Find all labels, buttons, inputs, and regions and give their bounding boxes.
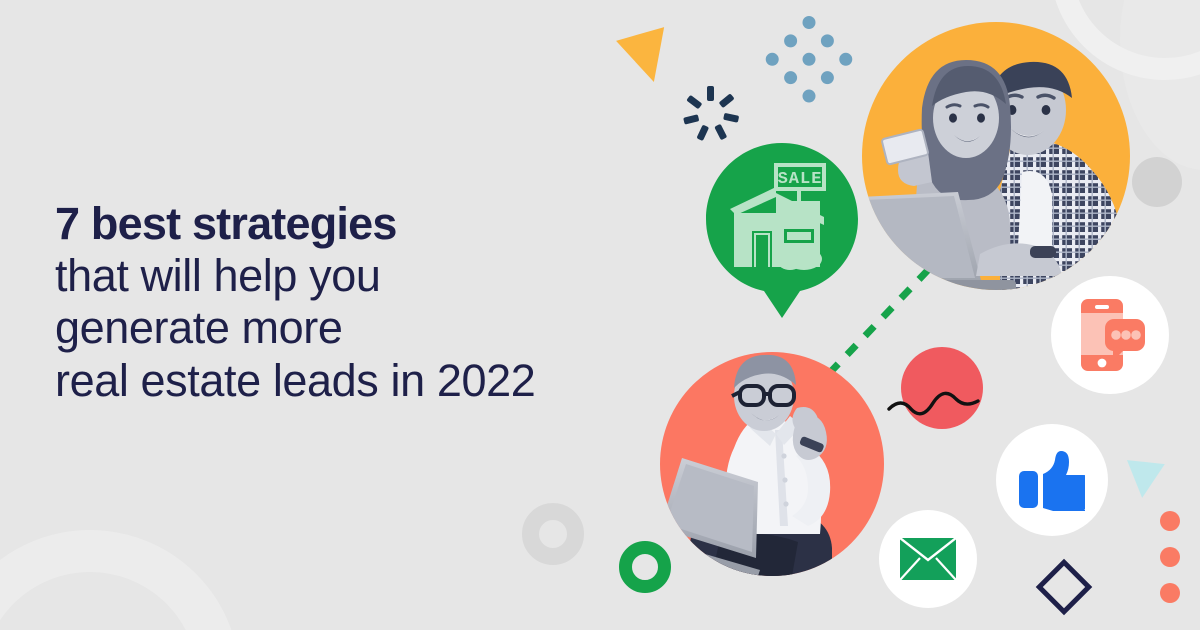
thumbs-up-icon [1019,449,1085,511]
thumbs-up-badge [996,424,1108,536]
navy-diamond-icon [1036,559,1093,616]
phone-chat-icon [1073,295,1147,375]
man-illustration [660,352,884,576]
coral-dot-3 [1160,583,1180,603]
background-ring-bottom-left [0,530,240,630]
headline-line-4: real estate leads in 2022 [55,355,695,407]
navy-starburst-icon [680,84,740,144]
yellow-triangle-icon [616,27,678,89]
sale-sign-label: SALE [778,170,823,189]
cyan-triangle-icon [1123,460,1165,500]
coral-dot-1 [1160,511,1180,531]
phone-chat-badge [1051,276,1169,394]
squiggle-line-icon [885,364,1005,424]
coral-dot-2 [1160,547,1180,567]
headline-line-1: 7 best strategies [55,198,695,250]
house-sale-pin-icon: SALE [706,143,858,318]
gray-dot-decoration [1132,157,1182,207]
photo-couple-with-laptop [862,22,1130,290]
photo-man-on-phone [660,352,884,576]
envelope-badge [879,510,977,608]
headline-line-3: generate more [55,302,695,354]
blog-banner: 7 best strategies that will help you gen… [0,0,1200,630]
page-title: 7 best strategies that will help you gen… [55,198,695,407]
headline-line-2: that will help you [55,250,695,302]
gray-ring-decoration [522,503,584,565]
envelope-icon [900,538,956,580]
green-ring-decoration [619,541,671,593]
couple-illustration [862,22,1130,290]
blue-dot-grid-icon [762,13,855,106]
